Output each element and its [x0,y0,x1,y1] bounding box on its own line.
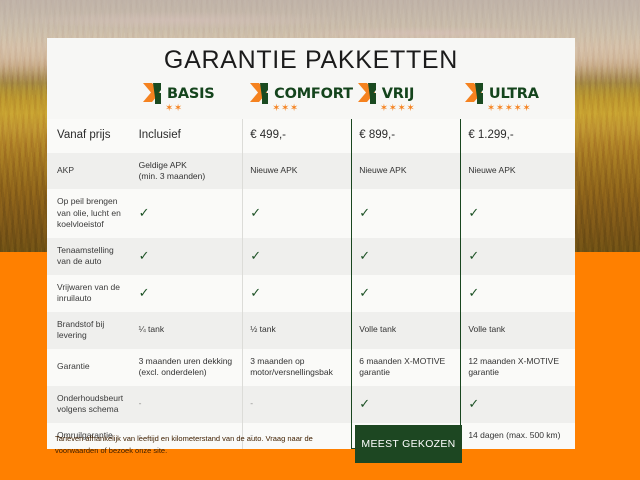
page-title: GARANTIE PAKKETTEN [47,38,575,75]
check-icon: ✓ [468,206,479,219]
table-row: Onderhoudsbeurt volgens schema--✓✓ [47,386,575,423]
table-cell: ✓ [132,238,243,275]
plan-name-comfort: COMFORT [274,86,353,102]
table-cell: ✓ [461,386,575,423]
plan-header-row: BASIS ✶✶ COMFORT ✶✶✶ V [47,75,575,119]
table-cell: Nieuwe APK [461,153,575,190]
table-cell: ✓ [243,238,352,275]
check-icon: ✓ [250,249,261,262]
check-icon: ✓ [139,286,150,299]
table-row: Garantie3 maanden uren dekking(excl. ond… [47,349,575,386]
table-cell: Geldige APK(min. 3 maanden) [132,153,243,190]
table-cell: Volle tank [352,312,461,349]
table-cell: - [243,386,352,423]
table-cell: 12 maanden X-MOTIVEgarantie [461,349,575,386]
x-motive-logo-icon [357,81,383,106]
check-icon: ✓ [250,286,261,299]
plan-header-comfort[interactable]: COMFORT ✶✶✶ [245,75,353,114]
row-label: AKP [47,153,132,190]
table-row: Vrijwaren van de inruilauto✓✓✓✓ [47,275,575,312]
plan-stars-basis: ✶✶ [165,104,183,114]
check-icon: ✓ [139,206,150,219]
plan-stars-ultra: ✶✶✶✶✶ [487,104,531,114]
table-cell: 14 dagen (max. 500 km) [461,423,575,449]
table-cell: ✓ [461,275,575,312]
footer-disclaimer: Tarieven afhankelijk van leeftijd en kil… [55,433,355,456]
table-cell: Nieuwe APK [352,153,461,190]
table-cell: ✓ [132,189,243,237]
table-cell: 3 maanden uren dekking(excl. onderdelen) [132,349,243,386]
plan-name-vrij: VRIJ [382,86,414,102]
table-cell: 3 maanden opmotor/versnellingsbak [243,349,352,386]
check-icon: ✓ [359,397,370,410]
check-icon: ✓ [139,249,150,262]
packages-comparison-table: Vanaf prijsInclusief€ 499,-€ 899,-€ 1.29… [47,119,575,449]
row-label: Brandstof bij levering [47,312,132,349]
table-cell: Volle tank [461,312,575,349]
table-cell: € 899,- [352,119,461,153]
packages-table-body: Vanaf prijsInclusief€ 499,-€ 899,-€ 1.29… [47,119,575,449]
check-icon: ✓ [468,249,479,262]
plan-header-vrij[interactable]: VRIJ ✶✶✶✶ [353,75,460,114]
table-row: Vanaf prijsInclusief€ 499,-€ 899,-€ 1.29… [47,119,575,153]
most-chosen-button[interactable]: MEEST GEKOZEN [355,425,462,463]
table-cell: Nieuwe APK [243,153,352,190]
table-cell: € 1.299,- [461,119,575,153]
table-cell: ✓ [461,238,575,275]
row-label: Op peil brengen van olie, lucht en koelv… [47,189,132,237]
table-cell: ✓ [352,189,461,237]
plan-stars-comfort: ✶✶✶ [272,104,299,114]
plan-logo-comfort: COMFORT [249,81,353,106]
table-row: AKPGeldige APK(min. 3 maanden)Nieuwe APK… [47,153,575,190]
check-icon: ✓ [359,206,370,219]
table-row: Op peil brengen van olie, lucht en koelv… [47,189,575,237]
row-label: Onderhoudsbeurt volgens schema [47,386,132,423]
plan-stars-vrij: ✶✶✶✶ [380,104,416,114]
table-cell: ✓ [352,386,461,423]
row-label: Tenaamstelling van de auto [47,238,132,275]
row-label: Vrijwaren van de inruilauto [47,275,132,312]
not-included-dash: - [250,398,253,408]
not-included-dash: - [139,398,142,408]
table-cell: 6 maanden X-MOTIVEgarantie [352,349,461,386]
x-motive-logo-icon [464,81,490,106]
plan-name-basis: BASIS [167,86,215,102]
check-icon: ✓ [359,286,370,299]
plan-header-ultra[interactable]: ULTRA ✶✶✶✶✶ [460,75,567,114]
table-cell: ✓ [352,275,461,312]
table-cell: ½ tank [243,312,352,349]
check-icon: ✓ [359,249,370,262]
row-label: Vanaf prijs [47,119,132,153]
table-cell: ✓ [243,275,352,312]
check-icon: ✓ [250,206,261,219]
table-cell: € 499,- [243,119,352,153]
check-icon: ✓ [468,397,479,410]
table-cell: ✓ [243,189,352,237]
table-cell: ¼ tank [132,312,243,349]
table-cell: - [132,386,243,423]
plan-name-ultra: ULTRA [489,86,539,102]
table-cell: ✓ [132,275,243,312]
row-label: Garantie [47,349,132,386]
table-row: Tenaamstelling van de auto✓✓✓✓ [47,238,575,275]
table-row: Brandstof bij levering¼ tank½ tankVolle … [47,312,575,349]
table-cell: ✓ [461,189,575,237]
table-cell: Inclusief [132,119,243,153]
plan-header-basis[interactable]: BASIS ✶✶ [138,75,245,114]
table-cell: ✓ [352,238,461,275]
warranty-packages-card: GARANTIE PAKKETTEN BASIS ✶✶ COM [47,38,575,427]
check-icon: ✓ [468,286,479,299]
